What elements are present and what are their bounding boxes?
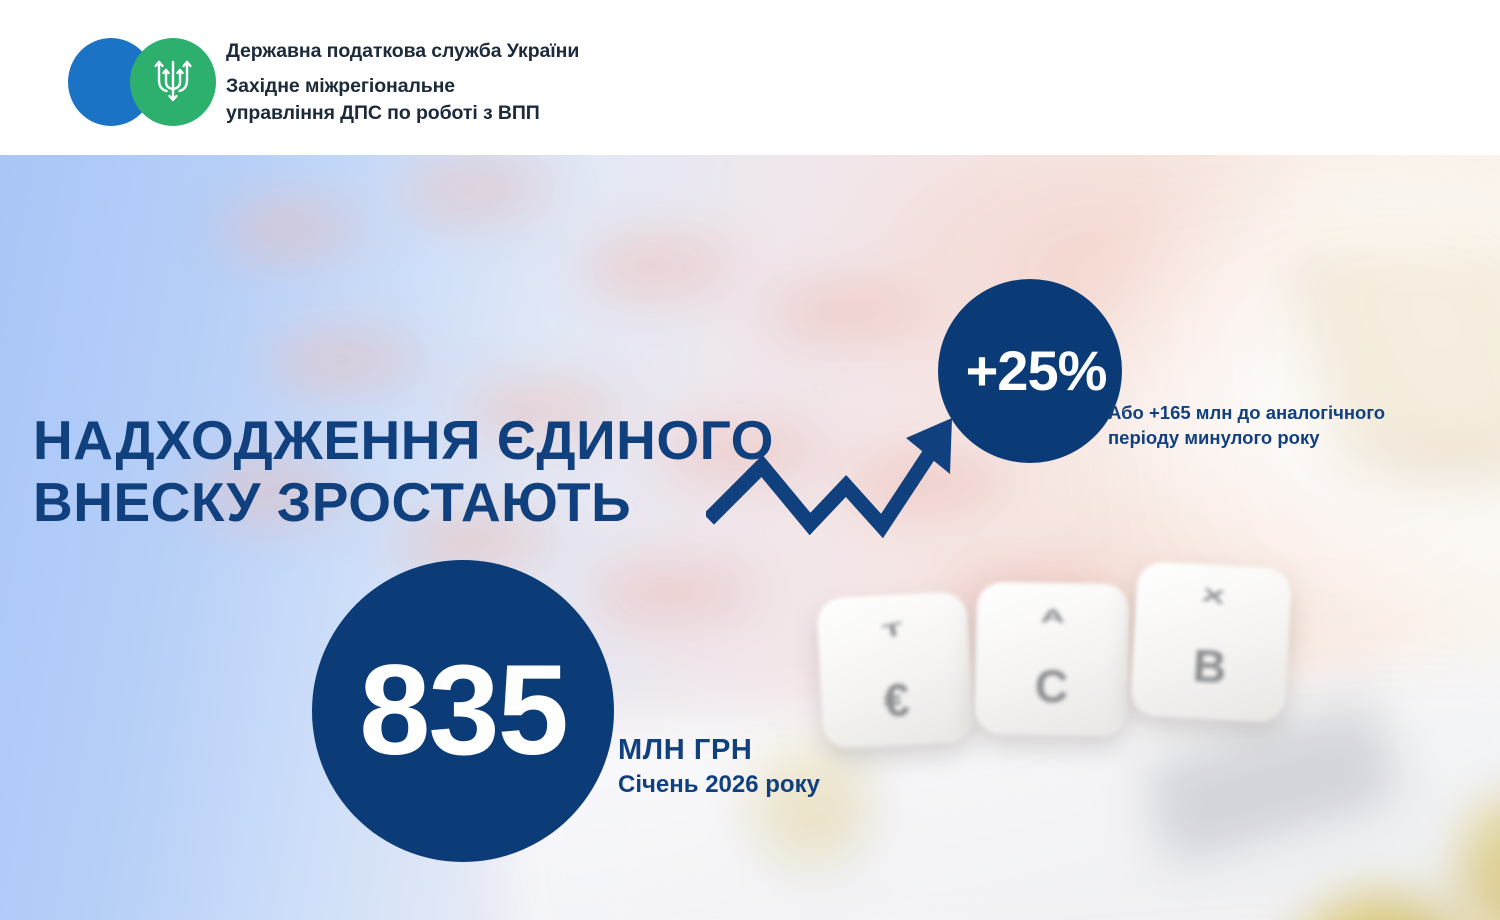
tax-dice-icon: T € A C X B: [800, 555, 1320, 855]
die-1: T €: [816, 591, 974, 749]
organization-logo: [68, 38, 216, 126]
die-1-top-letter: T: [817, 606, 968, 656]
calculator-icon: [590, 565, 765, 625]
amount-value: 835: [312, 560, 614, 862]
amount-period-label: Січень 2026 року: [618, 770, 948, 799]
growth-percent-value: +25%: [938, 279, 1134, 463]
growth-percent-badge: +25%: [938, 279, 1122, 463]
org-name-primary: Державна податкова служба України: [226, 38, 1126, 64]
die-2-top-letter: A: [977, 604, 1129, 628]
growth-comparison-note: Або +165 млн до аналогічного періоду мин…: [1108, 400, 1488, 450]
organization-title: Державна податкова служба України Західн…: [226, 38, 1126, 127]
calculator-icon: [220, 205, 370, 257]
die-3-top-letter: X: [1136, 574, 1291, 619]
amount-caption: МЛН ГРН Січень 2026 року: [618, 733, 948, 799]
org-name-secondary-line1: Західне міжрегіональне: [226, 73, 1126, 100]
die-3-front-letter: B: [1131, 635, 1288, 697]
calculator-icon: [270, 335, 430, 389]
amount-badge: 835: [312, 560, 614, 862]
die-3: X B: [1130, 561, 1292, 723]
headline-line-2: ВНЕСКУ ЗРОСТАЮТЬ: [33, 471, 893, 533]
ukraine-trident-icon: [150, 56, 196, 108]
calculator-icon: [580, 240, 745, 296]
amount-unit-label: МЛН ГРН: [618, 733, 948, 767]
org-name-secondary-line2: управління ДПС по роботі з ВПП: [226, 100, 1126, 127]
headline-line-1: НАДХОДЖЕННЯ ЄДИНОГО: [33, 409, 774, 471]
calculator-icon: [400, 165, 560, 219]
die-2-front-letter: C: [975, 658, 1128, 715]
page-title: НАДХОДЖЕННЯ ЄДИНОГО ВНЕСКУ ЗРОСТАЮТЬ: [33, 409, 893, 533]
infographic-poster: Державна податкова служба України Західн…: [0, 0, 1500, 920]
die-1-front-letter: €: [820, 669, 973, 731]
header-bar: Державна податкова служба України Західн…: [0, 0, 1500, 155]
growth-note-line-2: періоду минулого року: [1108, 425, 1488, 450]
poster-stage: T € A C X B НАДХОДЖЕННЯ ЄДИНОГО ВНЕСКУ З…: [0, 155, 1500, 920]
die-2: A C: [975, 582, 1130, 737]
growth-note-line-1: Або +165 млн до аналогічного: [1108, 400, 1488, 425]
